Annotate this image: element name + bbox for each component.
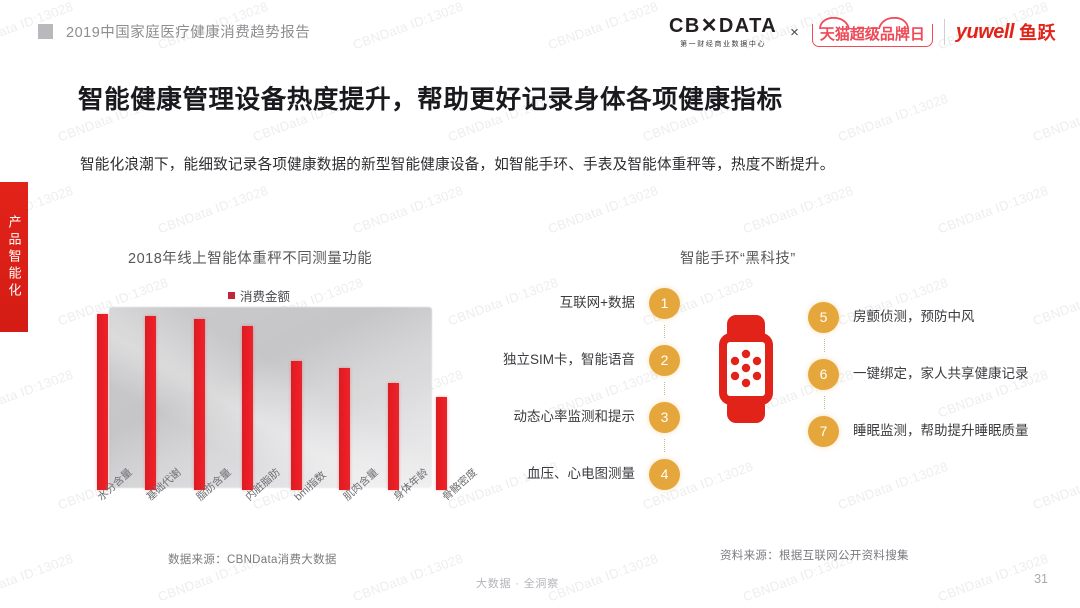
feature-item-text: 独立SIM卡，智能语音 xyxy=(503,350,649,370)
chart-bar xyxy=(388,383,399,490)
page-title: 智能健康管理设备热度提升，帮助更好记录身体各项健康指标 xyxy=(78,79,783,116)
feature-item-number-badge: 1 xyxy=(649,288,680,319)
watermark-text: CBNData ID:13028 xyxy=(0,551,75,605)
yuwell-wordmark-cn: 鱼跃 xyxy=(1019,19,1056,45)
feature-item-number-badge: 7 xyxy=(808,416,839,447)
yuwell-wordmark-en: yuwell xyxy=(956,21,1014,44)
feature-item-number-badge: 4 xyxy=(649,459,680,490)
feature-item-number-badge: 2 xyxy=(649,345,680,376)
feature-item-text: 血压、心电图测量 xyxy=(527,464,649,484)
feature-item-text: 房颤侦测，预防中风 xyxy=(839,307,975,327)
info-panel-title: 智能手环“黑科技” xyxy=(680,247,796,268)
chart-bar xyxy=(194,319,205,490)
watermark-text: CBNData ID:13028 xyxy=(836,91,950,145)
page-subtitle: 智能化浪潮下，能细致记录各项健康数据的新型智能健康设备，如智能手环、手表及智能体… xyxy=(80,153,835,174)
timeline-connector xyxy=(440,325,680,338)
timeline-connector xyxy=(808,339,1060,352)
feature-list-item[interactable]: 动态心率监测和提示3 xyxy=(440,395,680,439)
chart-bar xyxy=(339,368,350,490)
smart-band-info-block: 智能手环“黑科技” 互联网+数据1独立SIM卡，智能语音2动态心率监测和提示3血… xyxy=(440,235,1060,555)
feature-list-item[interactable]: 5房颤侦测，预防中风 xyxy=(808,295,1060,339)
feature-item-text: 睡眠监测，帮助提升睡眠质量 xyxy=(839,421,1029,441)
chart-x-label: 身体年龄 xyxy=(390,486,438,538)
feature-list-item[interactable]: 独立SIM卡，智能语音2 xyxy=(440,338,680,382)
page-header: 2019中国家庭医疗健康消费趋势报告 CB✕DATA 第一财经商业数据中心 × … xyxy=(0,0,1080,62)
watermark-text: CBNData ID:13028 xyxy=(546,551,660,605)
chart-source-note: 数据来源：CBNData消费大数据 xyxy=(168,551,337,567)
feature-list-item[interactable]: 6一键绑定，家人共享健康记录 xyxy=(808,352,1060,396)
chart-x-label: bmi指数 xyxy=(291,486,339,538)
header-square-icon xyxy=(38,24,53,39)
chart-bar xyxy=(291,361,302,490)
feature-timeline-left: 互联网+数据1独立SIM卡，智能语音2动态心率监测和提示3血压、心电图测量4 xyxy=(440,281,680,496)
watermark-text: CBNData ID:13028 xyxy=(156,183,270,237)
watermark-text: CBNData ID:13028 xyxy=(546,183,660,237)
chart-x-label: 内脏脂肪 xyxy=(242,486,290,538)
yuwell-logo: yuwell 鱼跃 xyxy=(956,19,1056,45)
footer-tagline: 大数据 · 全洞察 xyxy=(476,575,559,591)
watermark-text: CBNData ID:13028 xyxy=(351,183,465,237)
watermark-text: CBNData ID:13028 xyxy=(936,183,1050,237)
chart-bar xyxy=(97,314,108,490)
section-tab-label: 产品智能化 xyxy=(8,215,21,300)
chart-x-label: 基础代谢 xyxy=(143,486,191,538)
chart-x-label: 肌肉含量 xyxy=(340,486,388,538)
feature-list-item[interactable]: 互联网+数据1 xyxy=(440,281,680,325)
chart-bar xyxy=(242,326,253,490)
watermark-text: CBNData ID:13028 xyxy=(351,551,465,605)
chart-x-label: 水分含量 xyxy=(94,486,142,538)
feature-item-text: 一键绑定，家人共享健康记录 xyxy=(839,364,1029,384)
smartwatch-icon xyxy=(710,313,782,425)
watermark-text: CBNData ID:13028 xyxy=(741,183,855,237)
timeline-connector xyxy=(440,439,680,452)
chart-x-axis-labels: 水分含量基础代谢脂肪含量内脏脂肪bmi指数肌肉含量身体年龄骨骼密度 xyxy=(94,493,450,553)
watermark-text: CBNData ID:13028 xyxy=(1031,91,1080,145)
timeline-connector xyxy=(808,396,1060,409)
logo-cluster: CB✕DATA 第一财经商业数据中心 × 天猫超级品牌日 yuwell 鱼跃 xyxy=(669,10,1056,54)
chart-bar xyxy=(145,316,156,490)
timeline-connector xyxy=(440,382,680,395)
feature-item-number-badge: 3 xyxy=(649,402,680,433)
legend-swatch-icon xyxy=(228,292,235,299)
chart-bars xyxy=(97,305,447,490)
report-title: 2019中国家庭医疗健康消费趋势报告 xyxy=(66,21,310,42)
feature-item-text: 互联网+数据 xyxy=(560,293,649,313)
feature-list-item[interactable]: 血压、心电图测量4 xyxy=(440,452,680,496)
chart-title: 2018年线上智能体重秤不同测量功能 xyxy=(128,247,372,268)
info-source-note: 资料来源：根据互联网公开资料搜集 xyxy=(720,547,909,563)
feature-item-text: 动态心率监测和提示 xyxy=(514,407,650,427)
chart-x-label: 脂肪含量 xyxy=(193,486,241,538)
times-symbol: × xyxy=(790,24,799,41)
feature-list-item[interactable]: 7睡眠监测，帮助提升睡眠质量 xyxy=(808,409,1060,453)
page-number: 31 xyxy=(1034,572,1048,586)
tmall-cat-ears-icon xyxy=(818,17,910,29)
cbndata-subtitle: 第一财经商业数据中心 xyxy=(680,39,766,49)
feature-item-number-badge: 6 xyxy=(808,359,839,390)
cbndata-logo: CB✕DATA 第一财经商业数据中心 xyxy=(669,16,777,49)
cbndata-wordmark: CB✕DATA xyxy=(669,16,777,37)
logo-divider xyxy=(944,19,945,45)
tmall-label: 天猫超级品牌日 xyxy=(820,27,925,42)
legend-label: 消费金额 xyxy=(240,286,290,305)
feature-timeline-right: 5房颤侦测，预防中风6一键绑定，家人共享健康记录7睡眠监测，帮助提升睡眠质量 xyxy=(808,295,1060,453)
tmall-super-brand-day-logo: 天猫超级品牌日 xyxy=(812,17,933,47)
watermark-text: CBNData ID:13028 xyxy=(936,551,1050,605)
chart-legend: 消费金额 xyxy=(228,286,290,305)
section-tab-product-intelligence: 产品智能化 xyxy=(0,182,28,332)
feature-item-number-badge: 5 xyxy=(808,302,839,333)
